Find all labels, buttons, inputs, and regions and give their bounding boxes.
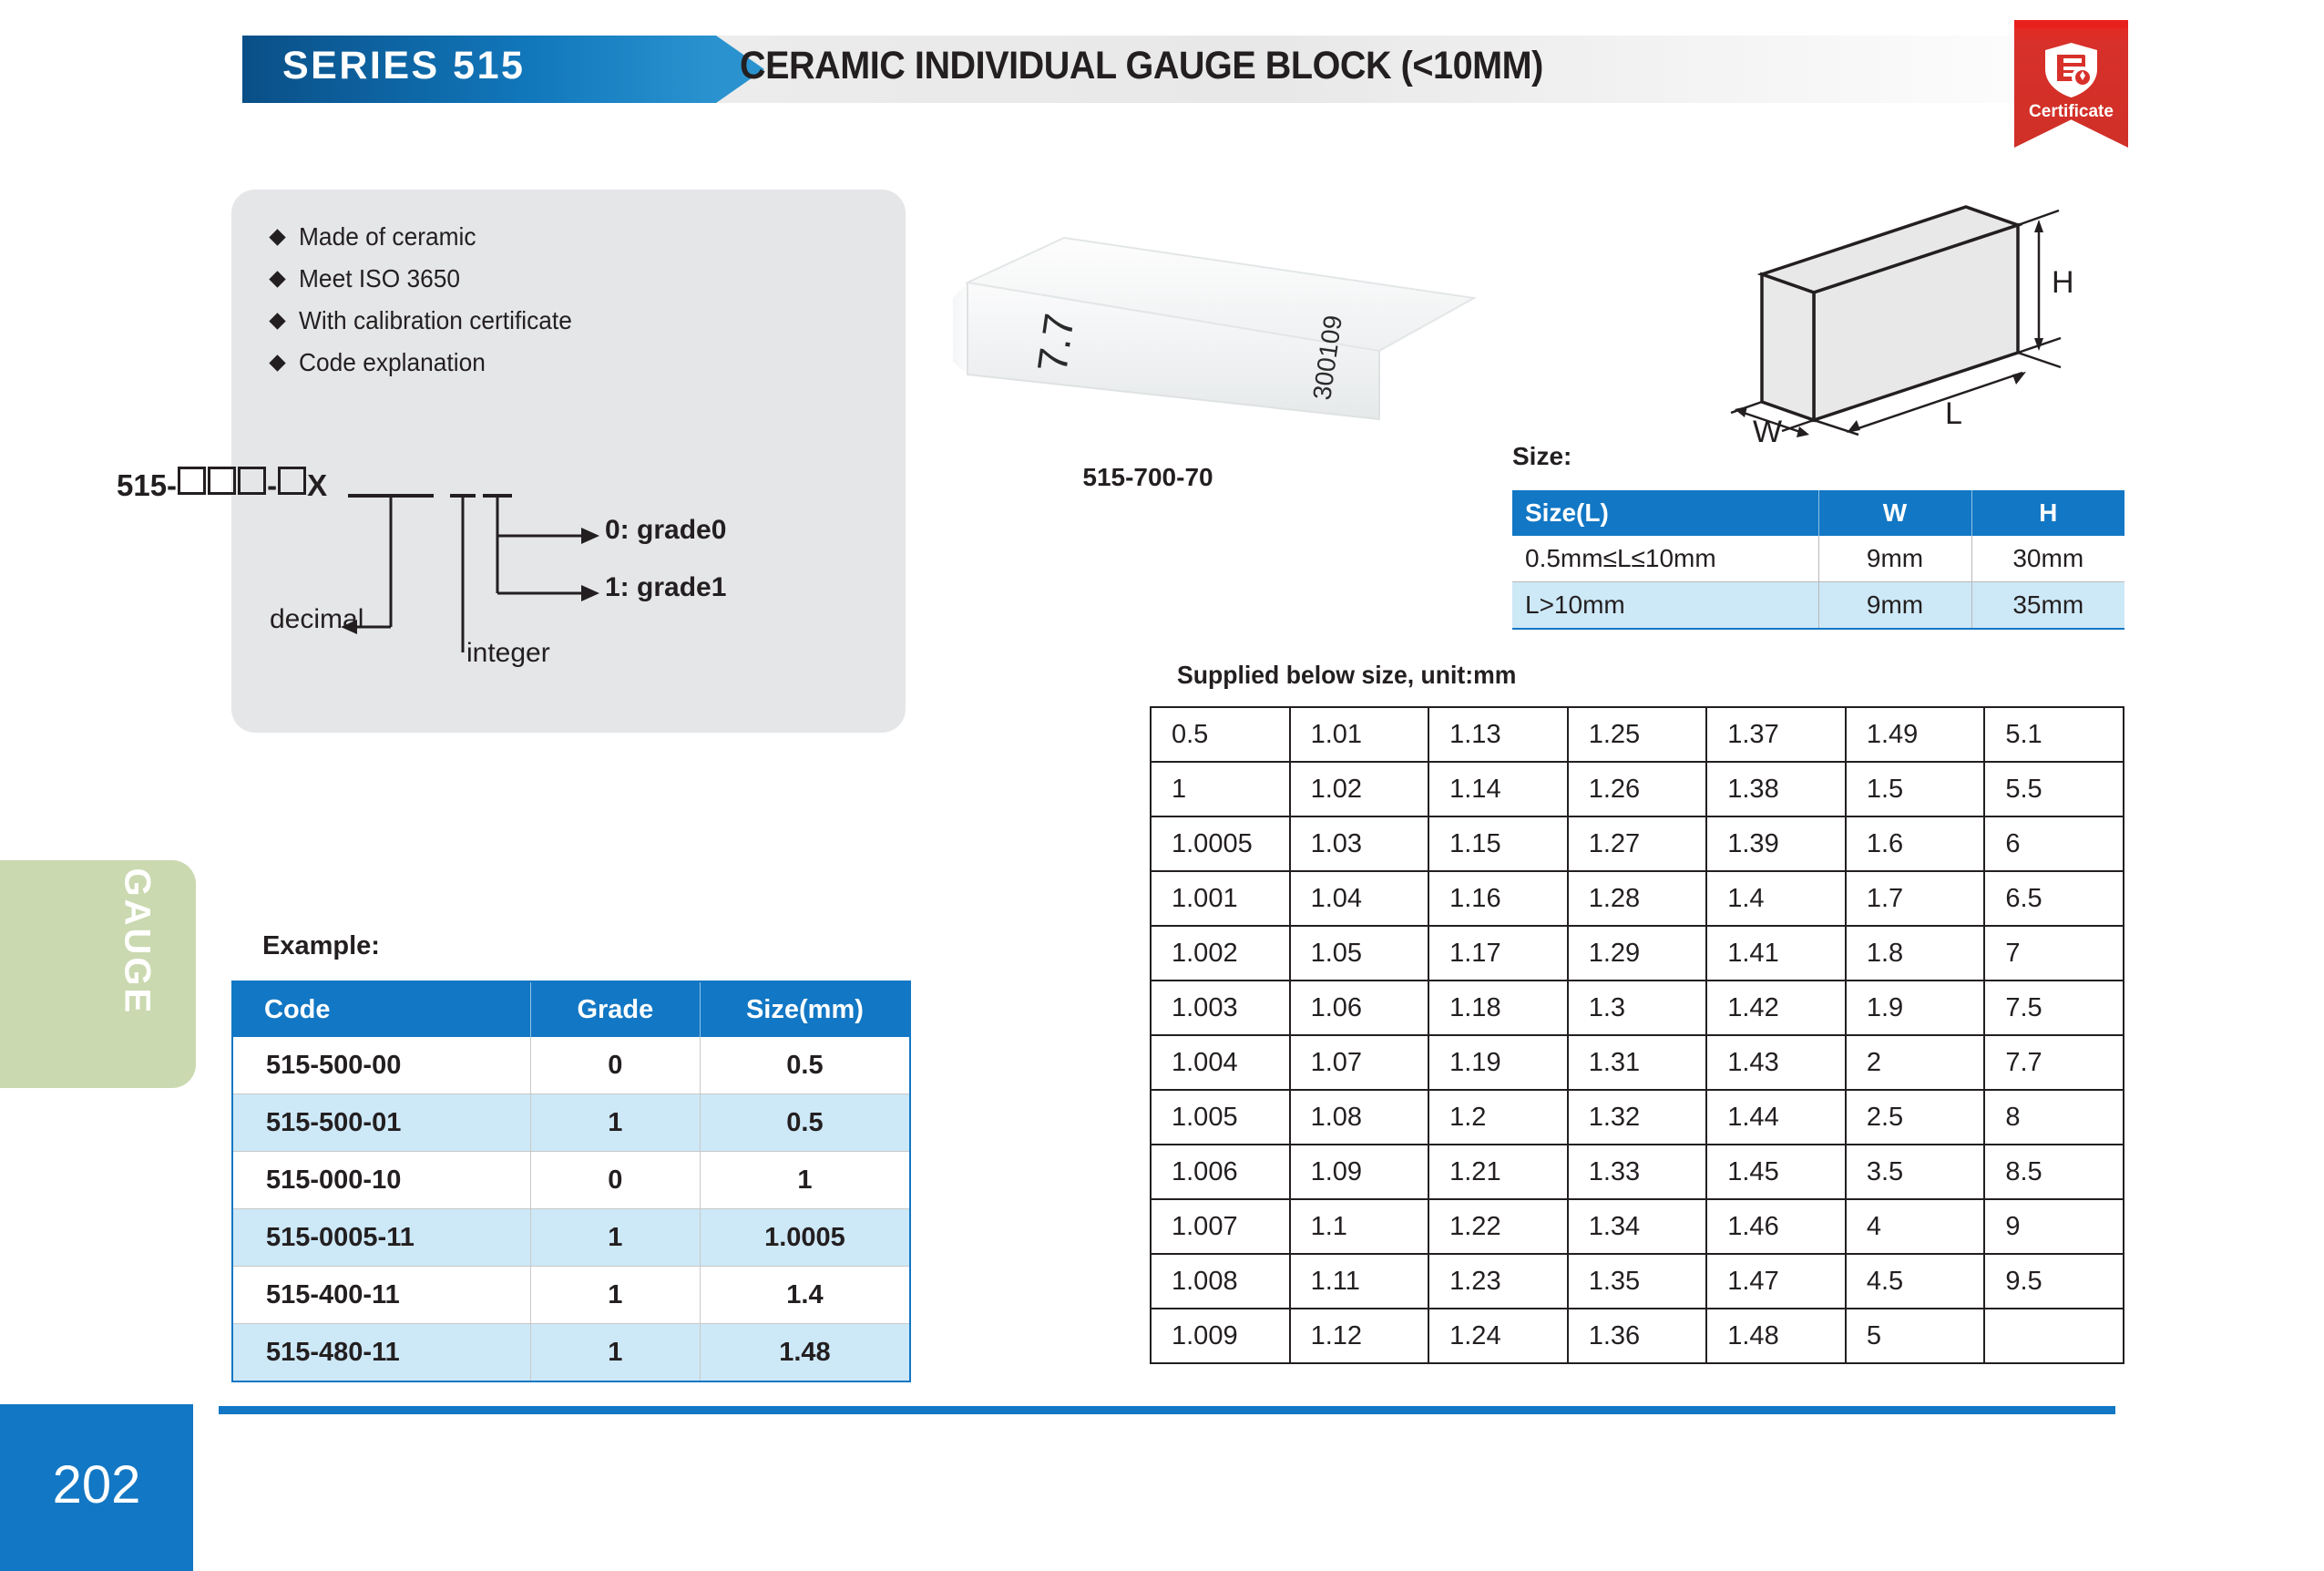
supplied-cell: 1.44	[1706, 1090, 1846, 1145]
supplied-cell: 1.39	[1706, 816, 1846, 871]
table-row: 1.008 1.11 1.23 1.35 1.47 4.5 9.5	[1151, 1254, 2124, 1309]
supplied-cell: 1.12	[1290, 1309, 1429, 1363]
table-row: 1.003 1.06 1.18 1.3 1.42 1.9 7.5	[1151, 981, 2124, 1035]
supplied-size-table: 0.5 1.01 1.13 1.25 1.37 1.49 5.1 1 1.02 …	[1150, 706, 2124, 1364]
table-row: 515-0005-11 1 1.0005	[232, 1209, 910, 1267]
supplied-cell: 5.1	[1984, 707, 2124, 762]
supplied-cell: 1.35	[1568, 1254, 1707, 1309]
size-col-w: W	[1818, 490, 1971, 536]
supplied-cell: 1.05	[1290, 926, 1429, 981]
example-cell-grade: 0	[530, 1152, 700, 1209]
supplied-cell: 1.46	[1706, 1199, 1846, 1254]
example-table-header-row: Code Grade Size(mm)	[232, 981, 910, 1037]
table-row: 1.002 1.05 1.17 1.29 1.41 1.8 7	[1151, 926, 2124, 981]
supplied-cell: 7.5	[1984, 981, 2124, 1035]
table-row: 515-500-01 1 0.5	[232, 1094, 910, 1152]
supplied-cell: 1.2	[1428, 1090, 1568, 1145]
table-row: 1.009 1.12 1.24 1.36 1.48 5	[1151, 1309, 2124, 1363]
table-row: 515-400-11 1 1.4	[232, 1267, 910, 1324]
supplied-cell: 1.16	[1428, 871, 1568, 926]
supplied-cell: 0.5	[1151, 707, 1290, 762]
code-decimal-label: decimal	[270, 604, 363, 635]
example-cell-size: 1.0005	[700, 1209, 910, 1267]
product-engraving-size: 7.7	[1028, 311, 1082, 375]
supplied-cell: 1.32	[1568, 1090, 1707, 1145]
supplied-cell: 3.5	[1846, 1145, 1985, 1199]
certificate-badge-label: Certificate	[2014, 102, 2128, 122]
supplied-cell: 1.18	[1428, 981, 1568, 1035]
example-cell-size: 0.5	[700, 1094, 910, 1152]
table-row: 515-480-11 1 1.48	[232, 1324, 910, 1382]
size-table-row: L>10mm 9mm 35mm	[1512, 582, 2124, 630]
supplied-cell: 5	[1846, 1309, 1985, 1363]
supplied-cell: 2	[1846, 1035, 1985, 1090]
example-cell-grade: 1	[530, 1209, 700, 1267]
size-col-h: H	[1971, 490, 2124, 536]
iso-label-h: H	[2052, 265, 2074, 300]
supplied-cell: 1.13	[1428, 707, 1568, 762]
supplied-cell: 1.45	[1706, 1145, 1846, 1199]
example-col-grade: Grade	[530, 981, 700, 1037]
table-row: 515-500-00 0 0.5	[232, 1037, 910, 1094]
example-cell-code: 515-000-10	[232, 1152, 530, 1209]
table-row: 1.004 1.07 1.19 1.31 1.43 2 7.7	[1151, 1035, 2124, 1090]
code-integer-label: integer	[466, 638, 550, 669]
supplied-cell: 1.26	[1568, 762, 1707, 816]
example-cell-grade: 1	[530, 1094, 700, 1152]
code-explanation-leader-lines	[231, 190, 906, 733]
supplied-cell: 1.22	[1428, 1199, 1568, 1254]
example-cell-code: 515-0005-11	[232, 1209, 530, 1267]
size-cell: 9mm	[1818, 536, 1971, 582]
code-grade0-label: 0: grade0	[605, 515, 726, 546]
supplied-cell: 1.1	[1290, 1199, 1429, 1254]
example-cell-size: 0.5	[700, 1037, 910, 1094]
code-prefix: 515-	[117, 468, 177, 502]
size-table-row: 0.5mm≤L≤10mm 9mm 30mm	[1512, 536, 2124, 582]
table-row: 1.005 1.08 1.2 1.32 1.44 2.5 8	[1151, 1090, 2124, 1145]
example-section-heading: Example:	[262, 931, 380, 961]
supplied-cell: 6	[1984, 816, 2124, 871]
example-cell-size: 1	[700, 1152, 910, 1209]
supplied-cell: 1.06	[1290, 981, 1429, 1035]
supplied-cell: 1.6	[1846, 816, 1985, 871]
supplied-cell: 1.4	[1706, 871, 1846, 926]
product-photo: 7.7 300109	[947, 196, 1494, 488]
example-cell-size: 1.4	[700, 1267, 910, 1324]
supplied-cell: 1.42	[1706, 981, 1846, 1035]
supplied-cell: 1.48	[1706, 1309, 1846, 1363]
supplied-cell	[1984, 1309, 2124, 1363]
supplied-cell: 1.09	[1290, 1145, 1429, 1199]
supplied-cell: 1.001	[1151, 871, 1290, 926]
table-row: 1.001 1.04 1.16 1.28 1.4 1.7 6.5	[1151, 871, 2124, 926]
side-tab-label: GAUGE	[117, 868, 158, 996]
supplied-cell: 1.7	[1846, 871, 1985, 926]
supplied-cell: 1.8	[1846, 926, 1985, 981]
certificate-badge-topline	[2014, 20, 2128, 28]
series-label: SERIES 515	[282, 44, 525, 88]
supplied-cell: 9	[1984, 1199, 2124, 1254]
supplied-cell: 1.008	[1151, 1254, 1290, 1309]
supplied-cell: 8.5	[1984, 1145, 2124, 1199]
size-section-heading: Size:	[1512, 442, 1572, 471]
supplied-cell: 1.5	[1846, 762, 1985, 816]
example-col-code: Code	[232, 981, 530, 1037]
supplied-cell: 1.04	[1290, 871, 1429, 926]
supplied-cell: 8	[1984, 1090, 2124, 1145]
page-title: CERAMIC INDIVIDUAL GAUGE BLOCK (<10MM)	[740, 44, 1543, 88]
supplied-cell: 4.5	[1846, 1254, 1985, 1309]
size-cell: 0.5mm≤L≤10mm	[1512, 536, 1818, 582]
supplied-cell: 1.47	[1706, 1254, 1846, 1309]
certificate-badge: Certificate	[2014, 20, 2128, 148]
supplied-cell: 1.38	[1706, 762, 1846, 816]
supplied-cell: 4	[1846, 1199, 1985, 1254]
supplied-cell: 1.29	[1568, 926, 1707, 981]
supplied-cell: 1.3	[1568, 981, 1707, 1035]
supplied-cell: 1.31	[1568, 1035, 1707, 1090]
size-cell: 9mm	[1818, 582, 1971, 630]
supplied-cell: 1.15	[1428, 816, 1568, 871]
size-table: Size(L) W H 0.5mm≤L≤10mm 9mm 30mm L>10mm…	[1512, 490, 2124, 630]
supplied-cell: 1.21	[1428, 1145, 1568, 1199]
supplied-cell: 5.5	[1984, 762, 2124, 816]
supplied-cell: 1.01	[1290, 707, 1429, 762]
supplied-cell: 1.17	[1428, 926, 1568, 981]
supplied-cell: 1.009	[1151, 1309, 1290, 1363]
supplied-cell: 1.03	[1290, 816, 1429, 871]
supplied-cell: 1.002	[1151, 926, 1290, 981]
size-cell: 30mm	[1971, 536, 2124, 582]
size-col-size: Size(L)	[1512, 490, 1818, 536]
product-caption: 515-700-70	[947, 463, 1348, 492]
example-col-size: Size(mm)	[700, 981, 910, 1037]
table-row: 515-000-10 0 1	[232, 1152, 910, 1209]
example-cell-grade: 0	[530, 1037, 700, 1094]
example-cell-code: 515-500-00	[232, 1037, 530, 1094]
code-box-decimal-1	[178, 467, 206, 495]
page-number: 202	[0, 1454, 193, 1515]
example-cell-grade: 1	[530, 1324, 700, 1382]
table-row: 0.5 1.01 1.13 1.25 1.37 1.49 5.1	[1151, 707, 2124, 762]
supplied-cell: 7.7	[1984, 1035, 2124, 1090]
supplied-cell: 1.41	[1706, 926, 1846, 981]
size-cell: L>10mm	[1512, 582, 1818, 630]
supplied-cell: 6.5	[1984, 871, 2124, 926]
supplied-cell: 1.23	[1428, 1254, 1568, 1309]
iso-label-l: L	[1945, 396, 1962, 431]
example-table: Code Grade Size(mm) 515-500-00 0 0.5 515…	[231, 981, 911, 1382]
supplied-cell: 1.07	[1290, 1035, 1429, 1090]
supplied-cell: 1.34	[1568, 1199, 1707, 1254]
supplied-cell: 1.25	[1568, 707, 1707, 762]
supplied-cell: 1.33	[1568, 1145, 1707, 1199]
supplied-cell: 1.004	[1151, 1035, 1290, 1090]
table-row: 1 1.02 1.14 1.26 1.38 1.5 5.5	[1151, 762, 2124, 816]
side-tab-gauge	[0, 860, 196, 1088]
example-cell-grade: 1	[530, 1267, 700, 1324]
supplied-cell: 9.5	[1984, 1254, 2124, 1309]
supplied-cell: 1.49	[1846, 707, 1985, 762]
supplied-cell: 1.9	[1846, 981, 1985, 1035]
supplied-cell: 1.005	[1151, 1090, 1290, 1145]
supplied-cell: 1.14	[1428, 762, 1568, 816]
supplied-cell: 1.36	[1568, 1309, 1707, 1363]
supplied-cell: 1.43	[1706, 1035, 1846, 1090]
footer-rule	[219, 1406, 2115, 1414]
supplied-cell: 1	[1151, 762, 1290, 816]
supplied-cell: 1.007	[1151, 1199, 1290, 1254]
size-cell: 35mm	[1971, 582, 2124, 630]
supplied-cell: 1.08	[1290, 1090, 1429, 1145]
example-cell-size: 1.48	[700, 1324, 910, 1382]
table-row: 1.007 1.1 1.22 1.34 1.46 4 9	[1151, 1199, 2124, 1254]
code-grade1-label: 1: grade1	[605, 572, 726, 603]
supplied-cell: 7	[1984, 926, 2124, 981]
supplied-cell: 1.11	[1290, 1254, 1429, 1309]
size-table-header-row: Size(L) W H	[1512, 490, 2124, 536]
example-cell-code: 515-480-11	[232, 1324, 530, 1382]
supplied-cell: 1.006	[1151, 1145, 1290, 1199]
supplied-cell: 1.27	[1568, 816, 1707, 871]
iso-label-w: W	[1753, 415, 1782, 449]
supplied-cell: 2.5	[1846, 1090, 1985, 1145]
example-cell-code: 515-400-11	[232, 1267, 530, 1324]
table-row: 1.006 1.09 1.21 1.33 1.45 3.5 8.5	[1151, 1145, 2124, 1199]
supplied-cell: 1.0005	[1151, 816, 1290, 871]
isometric-block-diagram: H L W	[1722, 196, 2141, 460]
supplied-cell: 1.003	[1151, 981, 1290, 1035]
supplied-cell: 1.02	[1290, 762, 1429, 816]
supplied-cell: 1.24	[1428, 1309, 1568, 1363]
supplied-cell: 1.28	[1568, 871, 1707, 926]
supplied-cell: 1.19	[1428, 1035, 1568, 1090]
table-row: 1.0005 1.03 1.15 1.27 1.39 1.6 6	[1151, 816, 2124, 871]
example-cell-code: 515-500-01	[232, 1094, 530, 1152]
certificate-shield-icon	[2042, 42, 2101, 98]
supplied-cell: 1.37	[1706, 707, 1846, 762]
supplied-section-heading: Supplied below size, unit:mm	[1177, 661, 1516, 690]
